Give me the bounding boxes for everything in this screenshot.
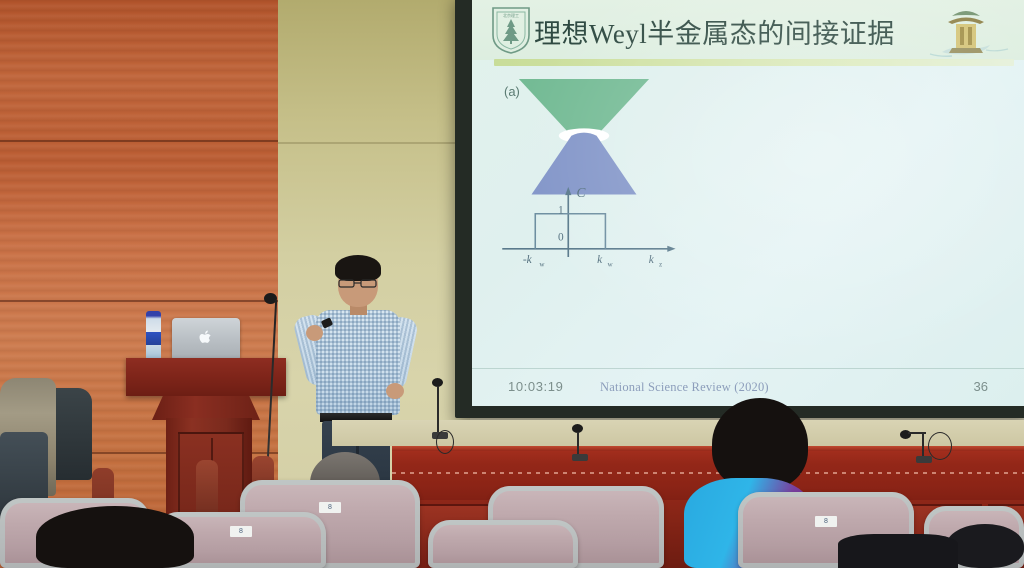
chinese-pavilion-illustration (922, 0, 1018, 62)
svg-text:k: k (649, 254, 655, 266)
lecture-hall-photo: 北京理工 理想Weyl半金属态的间接证据 (a) (0, 0, 1024, 568)
chern-number-inset-plot: 1 0 C -k w k w k z (494, 176, 690, 270)
svg-text:0: 0 (558, 232, 564, 244)
macbook-laptop (172, 318, 240, 359)
attendee-front-left (36, 506, 194, 568)
svg-text:-k: -k (523, 254, 533, 266)
svg-text:z: z (659, 260, 662, 268)
water-bottle (146, 311, 161, 359)
presenter-hair (335, 255, 381, 281)
mic-cable-right (928, 432, 952, 460)
presenter-right-hand (386, 383, 404, 399)
seat-number-plaque: 8 (319, 502, 341, 513)
lectern-neck (152, 396, 260, 420)
bottle-label (146, 332, 161, 344)
svg-text:1: 1 (558, 205, 564, 217)
svg-text:k: k (597, 254, 603, 266)
seat-number-plaque: 8 (230, 526, 252, 537)
slide-citation: National Science Review (2020) (600, 380, 769, 395)
attendee-dark-shoulder-right (838, 534, 958, 568)
university-shield-emblem: 北京理工 (490, 5, 532, 55)
seat-row-back-3[interactable] (428, 520, 578, 568)
svg-text:北京理工: 北京理工 (503, 12, 519, 18)
chair-armrest-mid (196, 460, 218, 520)
slide-timestamp: 10:03:19 (508, 379, 563, 394)
front-desk-trim (392, 472, 1024, 474)
svg-text:w: w (539, 260, 545, 268)
svg-text:C: C (577, 185, 587, 200)
projection-screen: 北京理工 理想Weyl半金属态的间接证据 (a) (472, 0, 1024, 406)
slide-page-number: 36 (974, 379, 988, 394)
eyeglasses-icon (338, 279, 377, 288)
presenter-left-hand (306, 325, 323, 341)
apple-logo-icon (200, 330, 213, 345)
seat-number-plaque: 8 (815, 516, 837, 527)
slide-title: 理想Weyl半金属态的间接证据 (534, 12, 895, 51)
header-divider-rule (494, 59, 1014, 66)
svg-text:w: w (607, 260, 613, 268)
lectern-top (126, 358, 286, 396)
footer-divider (472, 368, 1024, 369)
attendee-blue-jacket-head (712, 398, 808, 490)
mic-cable-left (436, 430, 454, 454)
